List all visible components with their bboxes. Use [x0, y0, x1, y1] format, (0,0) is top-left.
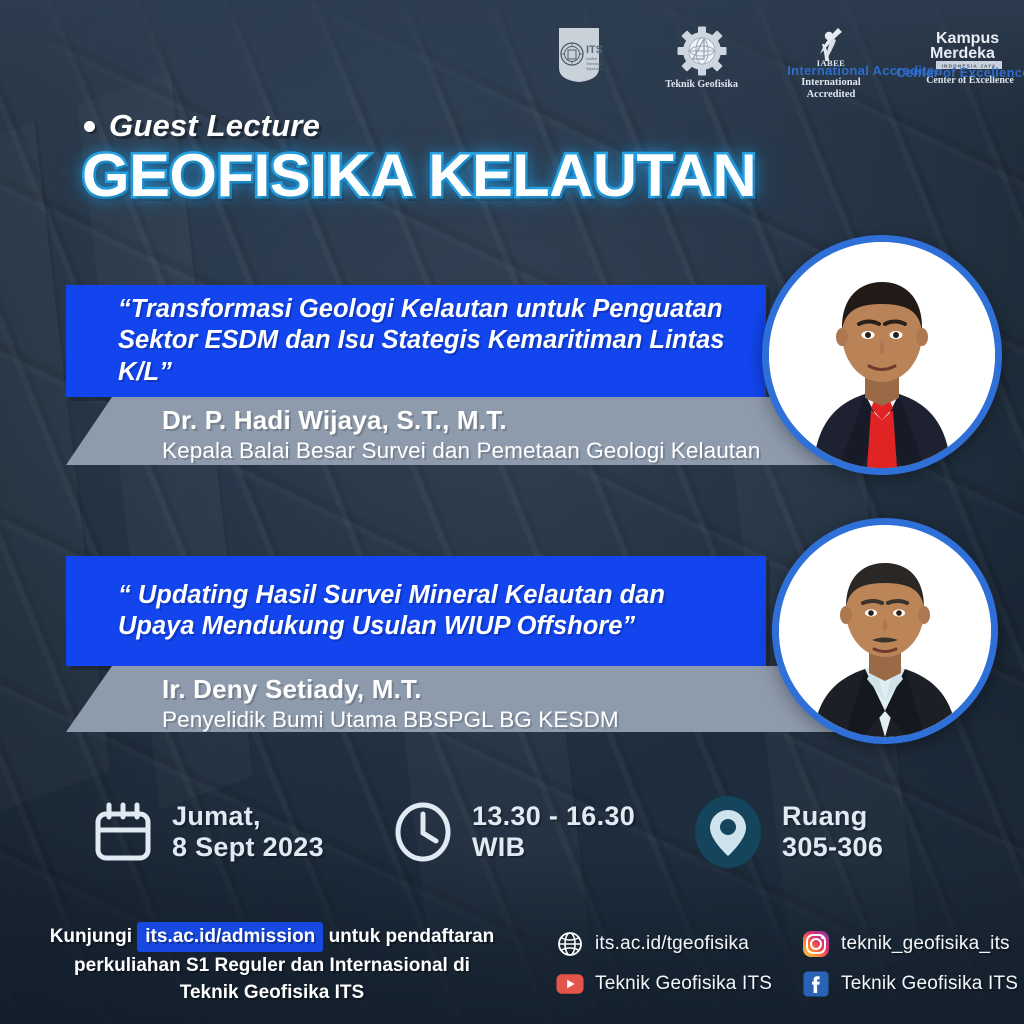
speaker-1-photo — [762, 235, 1002, 475]
facebook-icon — [802, 970, 830, 998]
speaker-2-name-banner: Ir. Deny Setiady, M.T. Penyelidik Bumi U… — [66, 666, 866, 732]
speaker-1-name-inner: Dr. P. Hadi Wijaya, S.T., M.T. Kepala Ba… — [66, 397, 866, 464]
eyebrow-guest-lecture: Guest Lecture — [84, 108, 320, 144]
svg-text:Teknologi: Teknologi — [586, 62, 601, 66]
social-youtube-label: Teknik Geofisika ITS — [595, 973, 772, 995]
iabee-caption: International Accredited — [801, 77, 861, 101]
globe-icon — [556, 930, 584, 958]
speaker-2-photo — [772, 518, 998, 744]
kampus-merdeka-ghost-text: Center of Excellence — [896, 66, 1024, 80]
teknik-geofisika-caption: Teknik Geofisika — [665, 79, 738, 90]
speaker-1-quote-banner: “Transformasi Geologi Kelautan untuk Pen… — [66, 285, 766, 397]
detail-date-line2: 8 Sept 2023 — [172, 832, 324, 862]
header-logo-row: ITS Institut Teknologi Sepuluh Nopember — [556, 26, 1016, 100]
social-facebook[interactable]: Teknik Geofisika ITS — [802, 970, 1024, 998]
detail-room: Ruang 305-306 — [692, 794, 972, 870]
detail-time-line2: WIB — [472, 832, 525, 862]
detail-time-line1: 13.30 - 16.30 — [472, 801, 635, 831]
calendar-icon — [92, 801, 154, 863]
eyebrow-label: Guest Lecture — [109, 108, 320, 144]
poster-root: ITS Institut Teknologi Sepuluh Nopember — [0, 0, 1024, 1024]
social-instagram-label: teknik_geofisika_its — [841, 933, 1010, 955]
social-website[interactable]: its.ac.id/tgeofisika — [556, 930, 802, 958]
detail-time: 13.30 - 16.30 WIB — [392, 801, 692, 864]
iabee-caption-line1: International — [801, 77, 861, 88]
svg-text:Sepuluh Nopember: Sepuluh Nopember — [586, 67, 602, 71]
svg-text:Merdeka: Merdeka — [930, 45, 995, 62]
location-pin-icon — [692, 794, 764, 870]
its-logo: ITS Institut Teknologi Sepuluh Nopember — [556, 26, 602, 84]
speaker-1-quote: “Transformasi Geologi Kelautan untuk Pen… — [66, 294, 766, 387]
event-details-row: Jumat, 8 Sept 2023 13.30 - 16.30 WIB — [92, 786, 972, 878]
speaker-2-name-inner: Ir. Deny Setiady, M.T. Penyelidik Bumi U… — [66, 666, 866, 733]
speaker-2-portrait — [779, 525, 991, 737]
youtube-icon — [556, 970, 584, 998]
footer-social-grid: its.ac.id/tgeofisika — [556, 924, 1024, 1004]
social-website-label: its.ac.id/tgeofisika — [595, 933, 749, 955]
speaker-2-quote: “ Updating Hasil Survei Mineral Kelautan… — [66, 580, 766, 642]
detail-room-text: Ruang 305-306 — [782, 801, 883, 864]
svg-text:Institut: Institut — [586, 57, 597, 61]
footer-cta: Kunjungi its.ac.id/admission untuk penda… — [22, 922, 522, 1007]
page-title: GEOFISIKA KELAUTAN — [82, 146, 756, 206]
footer-cta-after: untuk pendaftaran — [329, 926, 495, 947]
speaker-1-name-banner: Dr. P. Hadi Wijaya, S.T., M.T. Kepala Ba… — [66, 397, 866, 465]
speaker-1-role: Kepala Balai Besar Survei dan Pemetaan G… — [162, 438, 866, 464]
clock-icon — [392, 801, 454, 863]
social-youtube[interactable]: Teknik Geofisika ITS — [556, 970, 802, 998]
detail-date-line1: Jumat, — [172, 801, 261, 831]
social-facebook-label: Teknik Geofisika ITS — [841, 973, 1018, 995]
teknik-geofisika-logo: Teknik Geofisika — [665, 26, 738, 90]
iabee-caption-line2: Accredited — [807, 89, 856, 100]
kampus-merdeka-logo: Center of Excellence Kampus Merdeka INDO… — [924, 26, 1016, 86]
detail-date-text: Jumat, 8 Sept 2023 — [172, 801, 324, 864]
footer-cta-line3: Teknik Geofisika ITS — [180, 982, 364, 1003]
iabee-logo: International Accredited IABEE Internati… — [801, 26, 861, 101]
footer-cta-before: Kunjungi — [50, 926, 132, 947]
speaker-1-name: Dr. P. Hadi Wijaya, S.T., M.T. — [162, 405, 866, 436]
detail-time-text: 13.30 - 16.30 WIB — [472, 801, 635, 864]
speaker-2-quote-banner: “ Updating Hasil Survei Mineral Kelautan… — [66, 556, 766, 666]
detail-date: Jumat, 8 Sept 2023 — [92, 801, 392, 864]
speaker-2-name: Ir. Deny Setiady, M.T. — [162, 674, 866, 705]
its-logo-mark: ITS Institut Teknologi Sepuluh Nopember — [556, 26, 602, 84]
admission-link[interactable]: its.ac.id/admission — [137, 922, 323, 952]
svg-text:ITS: ITS — [586, 44, 602, 56]
social-instagram[interactable]: teknik_geofisika_its — [802, 930, 1024, 958]
bullet-dot-icon — [84, 121, 95, 132]
detail-room-line1: Ruang — [782, 801, 868, 831]
footer-cta-line2: perkuliahan S1 Reguler dan Internasional… — [74, 955, 470, 976]
speaker-2-role: Penyelidik Bumi Utama BBSPGL BG KESDM — [162, 707, 866, 733]
detail-room-line2: 305-306 — [782, 832, 883, 862]
speaker-1-portrait — [769, 242, 995, 468]
instagram-icon — [802, 930, 830, 958]
gear-globe-icon — [677, 26, 727, 76]
